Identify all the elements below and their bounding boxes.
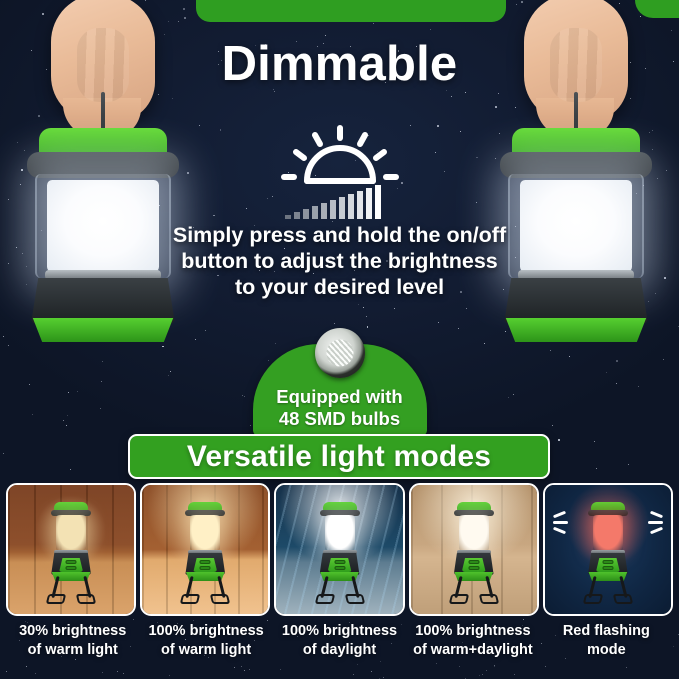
light-mode-thumbnail[interactable] (543, 483, 673, 616)
lantern-diffuser (593, 515, 623, 551)
caption-line-1: 100% brightness (406, 622, 539, 641)
lantern-button-upper (200, 560, 211, 564)
caption-line-2: mode (540, 641, 673, 660)
dimmable-brightness-icon (260, 122, 420, 226)
lantern-button-lower (200, 566, 211, 570)
lantern-illustration (181, 502, 229, 602)
light-mode-thumbnail[interactable] (274, 483, 404, 616)
caption-line-1: Red flashing (540, 622, 673, 641)
versatile-modes-banner: Versatile light modes (128, 434, 550, 479)
flash-lines-icon (647, 513, 663, 535)
light-modes-captions: 30% brightnessof warm light100% brightne… (0, 622, 679, 679)
top-clipped-banner (196, 0, 506, 22)
lantern-green-base (498, 318, 654, 342)
lantern-diffuser (190, 515, 220, 551)
lantern-diffuser (56, 515, 86, 551)
lantern-button-lower (334, 566, 345, 570)
lantern-tripod-legs (179, 576, 231, 604)
lantern-illustration (450, 502, 498, 602)
lantern-illustration (47, 502, 95, 602)
caption-line-2: of daylight (273, 641, 406, 660)
lantern-button-upper (334, 560, 345, 564)
lantern-diffuser (325, 515, 355, 551)
lantern-illustration (316, 502, 364, 602)
light-mode-caption: 100% brightnessof daylight (273, 622, 406, 679)
brightness-ramp-icon (285, 185, 381, 219)
body-copy-line-1: Simply press and hold the on/off (140, 222, 540, 248)
body-copy-line-3: to your desired level (140, 274, 540, 300)
light-modes-thumbnail-strip (0, 483, 679, 616)
led-module-icon (315, 328, 365, 378)
caption-line-2: of warm light (6, 641, 139, 660)
light-mode-thumbnail[interactable] (140, 483, 270, 616)
lantern-tripod-legs (314, 576, 366, 604)
caption-line-1: 30% brightness (6, 622, 139, 641)
body-copy: Simply press and hold the on/off button … (140, 222, 540, 300)
smd-badge-line-2: 48 SMD bulbs (279, 408, 400, 430)
lantern-button-lower (66, 566, 77, 570)
flash-lines-icon (553, 513, 569, 535)
lantern-green-base (25, 318, 181, 342)
smd-bulbs-badge: Equipped with 48 SMD bulbs (253, 344, 427, 436)
lantern-button-lower (602, 566, 613, 570)
caption-line-2: of warm light (139, 641, 272, 660)
light-mode-caption: Red flashingmode (540, 622, 673, 679)
caption-line-1: 100% brightness (273, 622, 406, 641)
page-title: Dimmable (0, 36, 679, 92)
light-mode-caption: 30% brightnessof warm light (6, 622, 139, 679)
light-mode-thumbnail[interactable] (409, 483, 539, 616)
body-copy-line-2: button to adjust the brightness (140, 248, 540, 274)
lantern-tripod-legs (448, 576, 500, 604)
light-mode-thumbnail[interactable] (6, 483, 136, 616)
lantern-illustration (584, 502, 632, 602)
smd-badge-line-1: Equipped with (276, 386, 402, 408)
light-mode-caption: 100% brightnessof warm+daylight (406, 622, 539, 679)
caption-line-1: 100% brightness (139, 622, 272, 641)
lantern-tripod-legs (45, 576, 97, 604)
light-mode-caption: 100% brightnessof warm light (139, 622, 272, 679)
lantern-button-upper (468, 560, 479, 564)
caption-line-2: of warm+daylight (406, 641, 539, 660)
lantern-button-upper (66, 560, 77, 564)
lantern-diffuser (459, 515, 489, 551)
infographic-stage: Dimmable Simply pre (0, 0, 679, 679)
lantern-button-upper (602, 560, 613, 564)
versatile-modes-title: Versatile light modes (187, 440, 491, 474)
lantern-button-lower (468, 566, 479, 570)
lantern-tripod-legs (582, 576, 634, 604)
